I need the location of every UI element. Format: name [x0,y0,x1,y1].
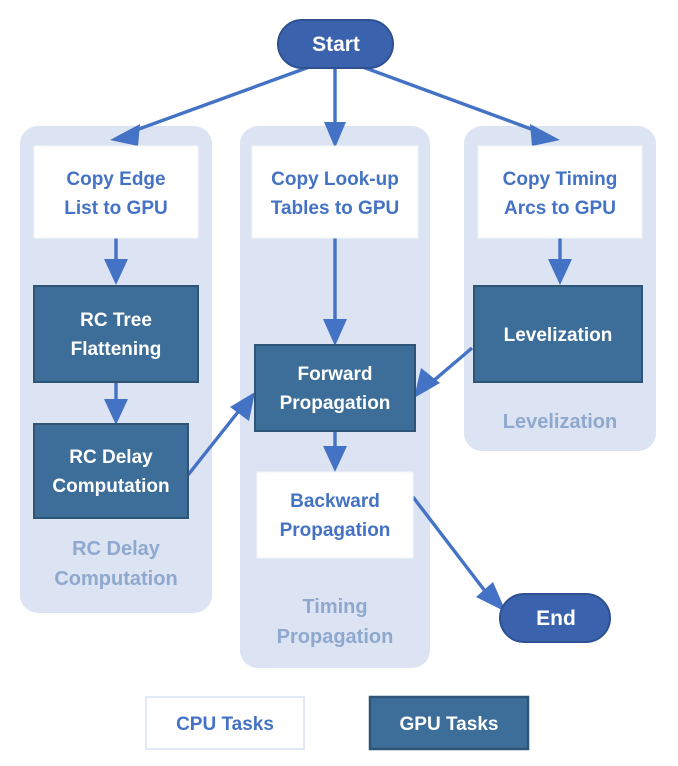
node-forward-propagation[interactable]: Forward Propagation [255,345,415,431]
node-copy-lookup-tables-line2: Tables to GPU [271,198,399,219]
node-copy-edge-list-line2: List to GPU [64,198,167,219]
node-end-label: End [536,607,576,630]
node-copy-timing-arcs-line2: Arcs to GPU [504,198,616,219]
legend: CPU Tasks GPU Tasks [146,697,528,749]
node-copy-edge-list-line1: Copy Edge [66,169,165,190]
node-backward-propagation-shape[interactable] [257,472,413,558]
node-copy-edge-list[interactable]: Copy Edge List to GPU [34,146,198,238]
node-copy-timing-arcs-line1: Copy Timing [503,169,618,190]
node-rc-tree-flattening-line1: RC Tree [80,310,152,331]
legend-label-cpu-tasks: CPU Tasks [176,714,274,735]
legend-label-gpu-tasks: GPU Tasks [400,714,499,735]
group-label-levelization: Levelization [503,411,617,433]
node-copy-lookup-tables[interactable]: Copy Look-up Tables to GPU [252,146,418,238]
node-start[interactable]: Start [278,20,393,68]
group-label-rc-delay-computation-line1: RC Delay [72,538,161,560]
node-rc-tree-flattening[interactable]: RC Tree Flattening [34,286,198,382]
node-forward-propagation-line2: Propagation [280,393,391,414]
flowchart-canvas: RC Delay Computation Timing Propagation … [0,0,678,766]
node-rc-tree-flattening-shape[interactable] [34,286,198,382]
node-backward-propagation[interactable]: Backward Propagation [257,472,413,558]
legend-item-gpu-tasks: GPU Tasks [370,697,528,749]
node-copy-timing-arcs[interactable]: Copy Timing Arcs to GPU [478,146,642,238]
node-backward-propagation-line2: Propagation [280,520,391,541]
node-end[interactable]: End [500,594,610,642]
node-rc-tree-flattening-line2: Flattening [71,339,162,360]
node-rc-delay-computation-line2: Computation [52,476,169,497]
group-label-rc-delay-computation-line2: Computation [54,568,177,590]
group-label-timing-propagation-line1: Timing [302,596,367,618]
node-copy-edge-list-shape[interactable] [34,146,198,238]
node-copy-lookup-tables-line1: Copy Look-up [271,169,399,190]
legend-item-cpu-tasks: CPU Tasks [146,697,304,749]
node-start-label: Start [312,33,360,56]
group-label-timing-propagation-line2: Propagation [277,626,394,648]
node-levelization[interactable]: Levelization [474,286,642,382]
node-copy-timing-arcs-shape[interactable] [478,146,642,238]
node-rc-delay-computation[interactable]: RC Delay Computation [34,424,188,518]
node-backward-propagation-line1: Backward [290,491,380,512]
node-levelization-label: Levelization [504,325,613,346]
flowchart-root: RC Delay Computation Timing Propagation … [0,0,678,766]
node-forward-propagation-shape[interactable] [255,345,415,431]
node-forward-propagation-line1: Forward [298,364,373,385]
node-rc-delay-computation-line1: RC Delay [69,447,153,468]
node-rc-delay-computation-shape[interactable] [34,424,188,518]
node-copy-lookup-tables-shape[interactable] [252,146,418,238]
